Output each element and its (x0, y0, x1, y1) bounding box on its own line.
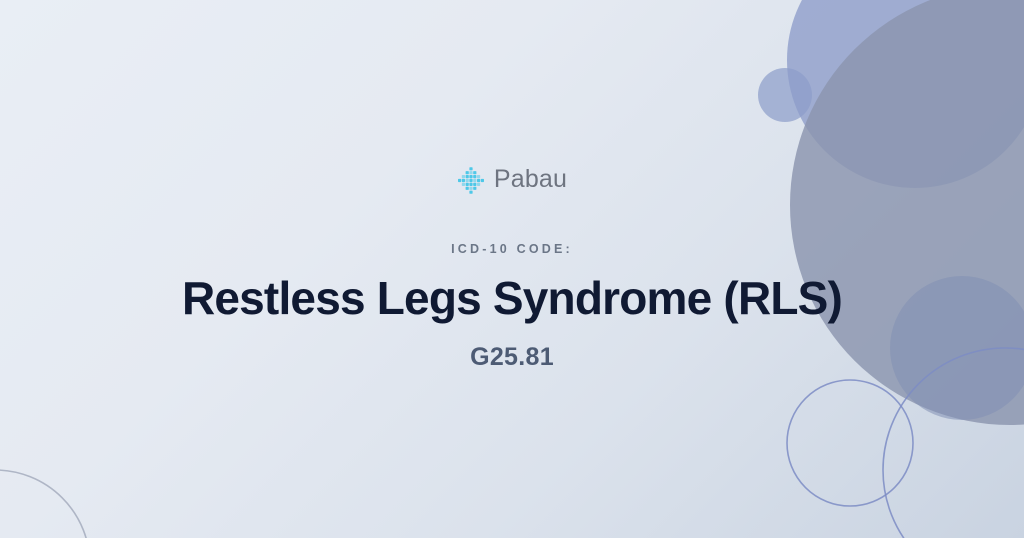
icd10-eyebrow-label: ICD-10 CODE: (451, 242, 573, 256)
icd10-code-banner: Pabau ICD-10 CODE: Restless Legs Syndrom… (0, 0, 1024, 538)
page-title: Restless Legs Syndrome (RLS) (182, 274, 842, 324)
brand-name: Pabau (494, 167, 567, 192)
pabau-brand-lockup: Pabau (457, 166, 567, 194)
hero-content: Pabau ICD-10 CODE: Restless Legs Syndrom… (0, 0, 1024, 538)
icd10-code-value: G25.81 (470, 343, 554, 372)
pabau-diamond-dots-logo-icon (457, 166, 485, 194)
